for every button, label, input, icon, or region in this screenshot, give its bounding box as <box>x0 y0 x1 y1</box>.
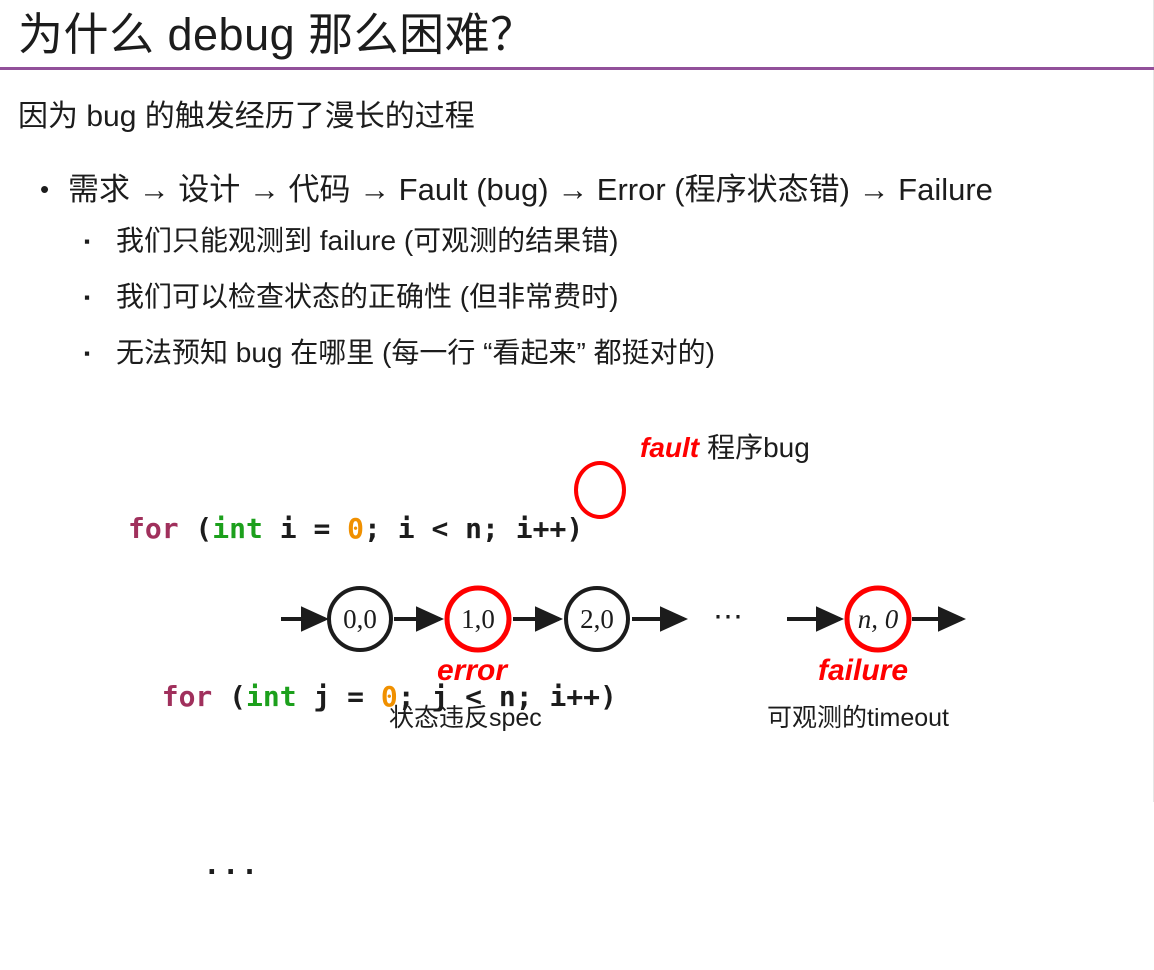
bullet-item-text: 我们只能观测到 failure (可观测的结果错) <box>116 225 618 256</box>
state-node-label: 1,0 <box>461 604 495 634</box>
subtitle-text: 因为 bug 的触发经历了漫长的过程 <box>18 96 475 138</box>
bullet-item-level2: ▪ 无法预知 bug 在哪里 (每一行 “看起来” 都挺对的) <box>0 325 1154 381</box>
bullet-item-text: 需求 → 设计 → 代码 → Fault (bug) → Error (程序状态… <box>68 172 993 207</box>
slide-header: 为什么 debug 那么困难？ <box>0 0 1154 72</box>
fault-annotation: fault程序bug <box>640 428 810 468</box>
error-caption: 状态违反spec <box>389 702 542 734</box>
bullet-marker-square: ▪ <box>84 269 90 326</box>
code-text: i = <box>263 512 347 545</box>
bullet-marker-square: ▪ <box>84 325 90 382</box>
code-line: for (int i = 0; i < n; i++) <box>128 508 617 550</box>
bullet-item-level1: • 需求 → 设计 → 代码 → Fault (bug) → Error (程序… <box>0 166 1154 213</box>
state-node-label: 0,0 <box>343 604 377 634</box>
error-annotation: error <box>437 653 507 689</box>
state-node-label: 2,0 <box>580 604 614 634</box>
code-number-zero: 0 <box>347 512 364 545</box>
code-keyword-for: for <box>128 512 179 545</box>
slide-canvas: 为什么 debug 那么困难？ 因为 bug 的触发经历了漫长的过程 • 需求 … <box>0 0 1154 802</box>
diagram-ellipsis: ⋯ <box>713 601 743 634</box>
bug-highlight-ellipse-icon <box>574 461 626 519</box>
bullet-item-level2: ▪ 我们可以检查状态的正确性 (但非常费时) <box>0 269 1154 325</box>
bullet-item-level2: ▪ 我们只能观测到 failure (可观测的结果错) <box>0 213 1154 269</box>
code-line-ellipsis: ... <box>128 844 617 886</box>
bullet-item-text: 无法预知 bug 在哪里 (每一行 “看起来” 都挺对的) <box>116 337 715 368</box>
failure-annotation: failure <box>818 653 908 689</box>
fault-label: fault <box>640 432 699 463</box>
title-divider <box>0 67 1154 70</box>
fault-note: 程序bug <box>707 432 810 463</box>
page-title: 为什么 debug 那么困难？ <box>18 4 536 66</box>
code-punctuation: ( <box>179 512 213 545</box>
bullet-item-text: 我们可以检查状态的正确性 (但非常费时) <box>116 281 618 312</box>
code-type-int: int <box>212 512 263 545</box>
code-text: ; i < n; i++) <box>364 512 583 545</box>
bullet-marker-round: • <box>40 166 49 213</box>
state-node-label: n, 0 <box>858 604 899 634</box>
bullet-marker-square: ▪ <box>84 213 90 270</box>
state-machine-diagram: 0,0 1,0 2,0 ⋯ n, 0 <box>0 565 1154 755</box>
bullet-list: • 需求 → 设计 → 代码 → Fault (bug) → Error (程序… <box>0 166 1154 381</box>
state-diagram-svg: 0,0 1,0 2,0 ⋯ n, 0 <box>0 565 1154 755</box>
failure-caption: 可观测的timeout <box>767 702 949 734</box>
